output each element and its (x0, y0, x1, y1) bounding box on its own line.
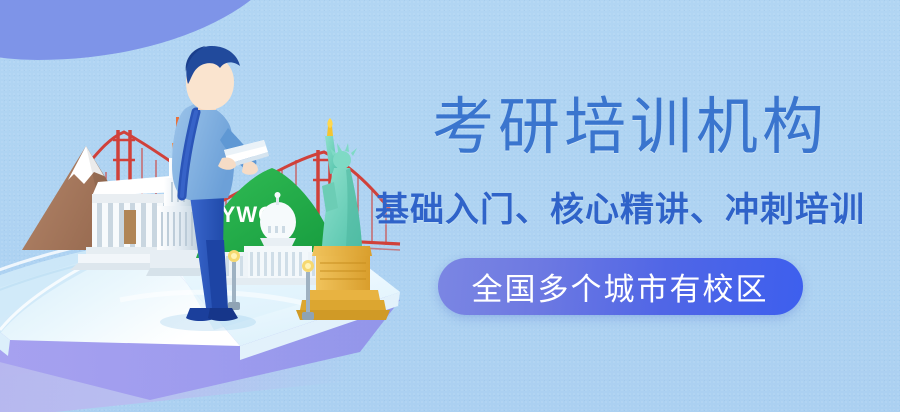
promo-banner: LLYWO (0, 0, 900, 412)
campus-locations-cta-button[interactable]: 全国多个城市有校区 (438, 258, 803, 315)
banner-headline: 考研培训机构 (390, 93, 870, 163)
banner-subheadline: 基础入门、核心精讲、冲刺培训 (355, 188, 885, 232)
cta-container: 全国多个城市有校区 (355, 258, 885, 315)
banner-copy: 考研培训机构 基础入门、核心精讲、冲刺培训 全国多个城市有校区 (355, 0, 900, 412)
